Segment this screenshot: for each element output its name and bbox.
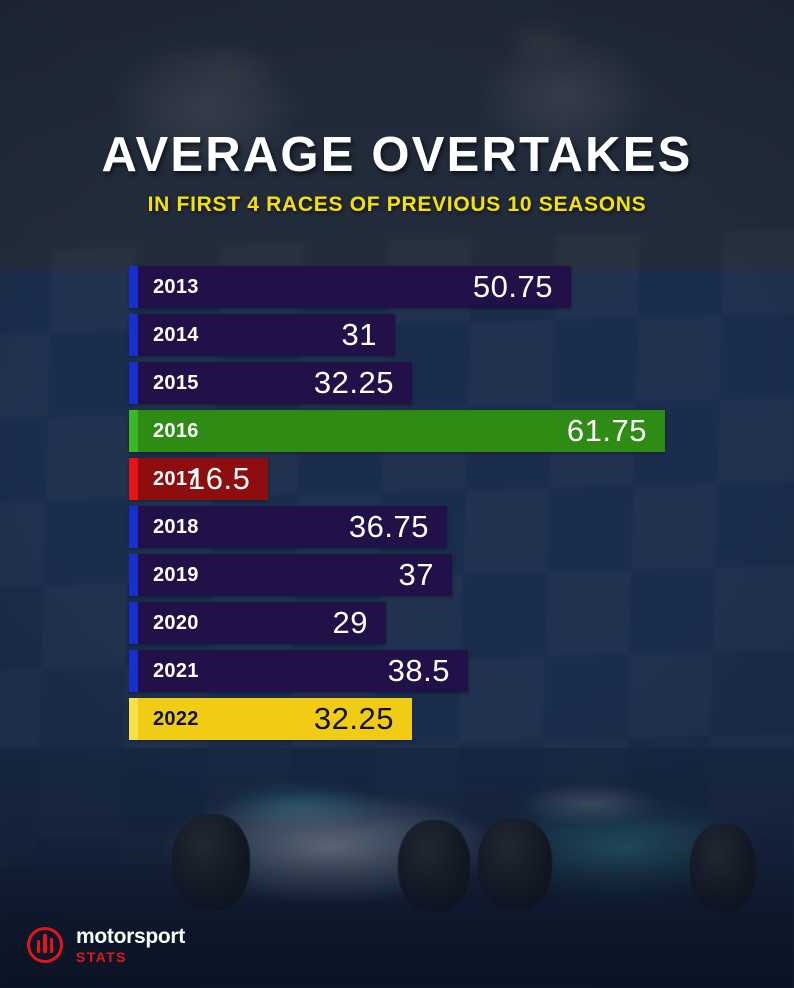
logo-wordmark: motorsport	[76, 926, 185, 947]
bar-row: 201431	[129, 314, 729, 356]
bar-row: 201836.75	[129, 506, 729, 548]
motorsport-stats-mark-icon	[27, 927, 63, 963]
motorsport-stats-logo[interactable]: motorsport STATS	[27, 926, 185, 964]
page-title: AVERAGE OVERTAKES	[0, 130, 794, 181]
bar-value-label-2019: 37	[129, 557, 434, 593]
bar-row: 201661.75	[129, 410, 729, 452]
bar-value-label-2020: 29	[129, 605, 368, 641]
car-tyre	[478, 818, 552, 910]
page-subtitle: IN FIRST 4 RACES OF PREVIOUS 10 SEASONS	[0, 193, 794, 217]
bar-accent-2017	[129, 458, 138, 500]
bar-row: 201350.75	[129, 266, 729, 308]
bar-value-label-2013: 50.75	[129, 269, 553, 305]
bar-value-label-2014: 31	[129, 317, 377, 353]
header: AVERAGE OVERTAKES IN FIRST 4 RACES OF PR…	[0, 130, 794, 217]
car-tyre	[690, 824, 756, 912]
bar-value-label-2015: 32.25	[129, 365, 394, 401]
bar-row: 201937	[129, 554, 729, 596]
logo-bar-1	[37, 940, 41, 953]
bar-value-label-2017: 16.5	[188, 461, 250, 497]
bar-value-label-2021: 38.5	[129, 653, 450, 689]
logo-text: motorsport STATS	[76, 926, 185, 964]
car-tyre	[398, 820, 470, 912]
logo-subword: STATS	[76, 950, 185, 964]
logo-bar-3	[50, 938, 54, 953]
car-tyre	[172, 814, 250, 910]
bar-value-label-2016: 61.75	[129, 413, 647, 449]
bar-row: 202029	[129, 602, 729, 644]
logo-bar-2	[43, 934, 47, 953]
bar-row: 201716.5	[129, 458, 729, 500]
bar-value-label-2022: 32.25	[129, 701, 394, 737]
bar-row: 201532.25	[129, 362, 729, 404]
bar-value-label-2018: 36.75	[129, 509, 429, 545]
overtakes-bar-chart: 201350.75201431201532.25201661.75201716.…	[129, 266, 729, 746]
bar-row: 202232.25	[129, 698, 729, 740]
bar-row: 202138.5	[129, 650, 729, 692]
